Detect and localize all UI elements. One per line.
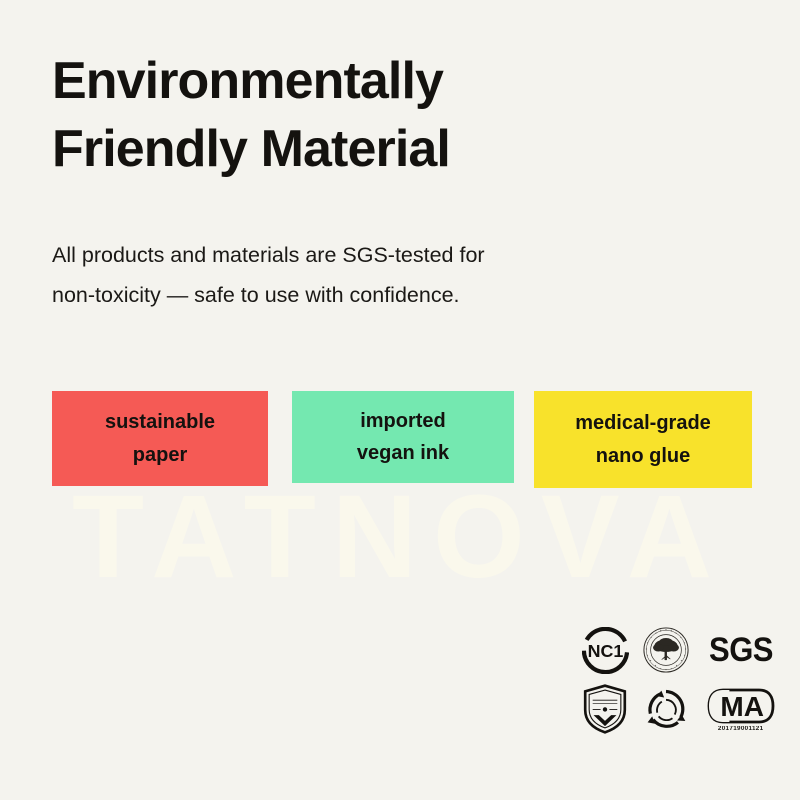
sgs-logo-label: SGS: [709, 630, 773, 670]
page-title-line-2: Friendly Material: [52, 116, 652, 184]
sgs-logo-icon: SGS: [709, 632, 773, 668]
material-tag-label-line-1: sustainable: [105, 406, 215, 438]
brand-watermark: TATNOVA: [0, 478, 800, 596]
page-subtitle-line-2: non-toxicity — safe to use with confiden…: [52, 276, 652, 316]
material-tag-label-line-1: medical-grade: [575, 407, 711, 439]
material-tag-sustainable-paper: sustainable paper: [52, 391, 268, 486]
svg-text:NC1: NC1: [587, 641, 623, 661]
material-tag-label-line-2: paper: [133, 439, 187, 471]
page-title-line-1: Environmentally: [52, 48, 652, 116]
page-subtitle: All products and materials are SGS-teste…: [52, 236, 652, 316]
nc1-mark-icon: NC1: [582, 627, 629, 674]
certification-logo-grid: NC1: [574, 620, 786, 738]
forest-seal-icon: [642, 626, 690, 674]
shield-badge-icon: [583, 684, 627, 734]
page-title: Environmentally Friendly Material: [52, 48, 652, 183]
material-tag-label-line-2: nano glue: [596, 440, 690, 472]
page-subtitle-line-1: All products and materials are SGS-teste…: [52, 236, 652, 276]
ma-mark-icon: MA 201719001121: [707, 687, 775, 732]
svg-text:MA: MA: [720, 691, 764, 722]
material-tag-imported-vegan-ink: imported vegan ink: [292, 391, 514, 483]
ma-certificate-number: 201719001121: [718, 726, 763, 732]
poster-canvas: TATNOVA Environmentally Friendly Materia…: [0, 0, 800, 800]
material-tag-label-line-2: vegan ink: [357, 437, 449, 469]
recycling-arrows-icon: [643, 686, 689, 732]
material-tag-medical-grade-nano-glue: medical-grade nano glue: [534, 391, 752, 488]
material-tag-label-line-1: imported: [360, 405, 446, 437]
